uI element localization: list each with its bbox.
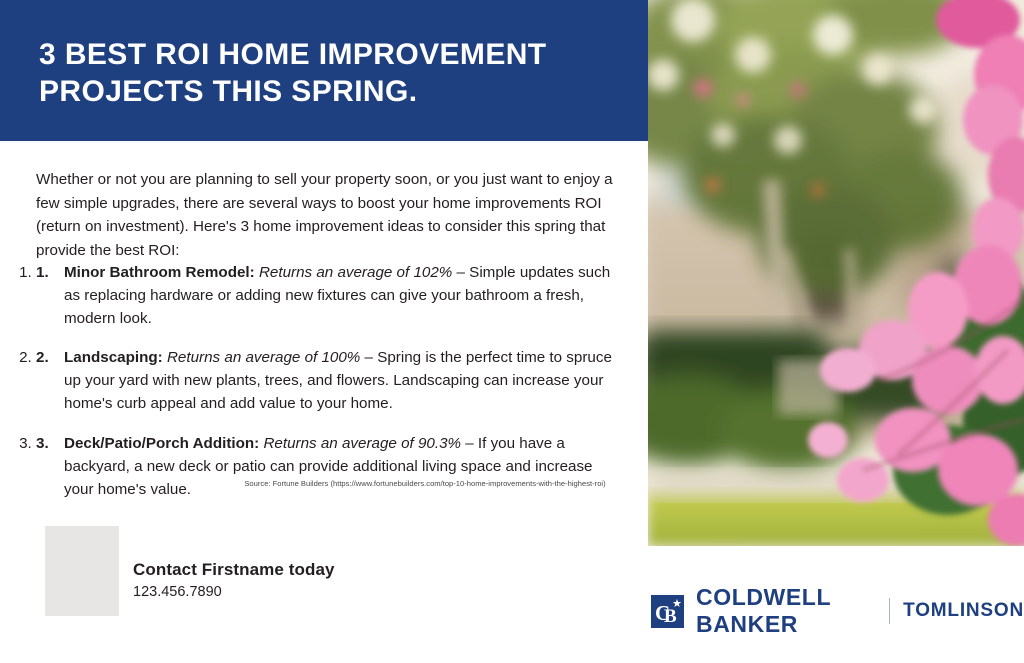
logo-divider [889, 598, 890, 624]
cb-monogram-icon: C B [651, 595, 684, 628]
list-item-number: 2. [36, 346, 49, 369]
contact-block: Contact Firstname today 123.456.7890 [133, 560, 335, 600]
hero-photo [648, 0, 1024, 546]
svg-text:B: B [664, 606, 677, 627]
house-garden-illustration [648, 0, 1024, 546]
coldwell-banker-logo: C B COLDWELL BANKER TOMLINSON [651, 584, 1024, 638]
page-title: 3 Best ROI Home Improvement Projects Thi… [39, 37, 629, 110]
list-item-number: 3. [36, 432, 49, 455]
list-item-title: Deck/Patio/Porch Addition: [64, 435, 259, 452]
contact-name: Contact Firstname today [133, 560, 335, 580]
list-item-stat: Returns an average of 90.3% [263, 435, 461, 452]
list-item-title: Landscaping: [64, 349, 163, 366]
header-band: 3 Best ROI Home Improvement Projects Thi… [0, 0, 648, 141]
intro-paragraph: Whether or not you are planning to sell … [36, 168, 616, 262]
agent-photo-placeholder [45, 526, 119, 616]
list-item: 2. Landscaping: Returns an average of 10… [36, 346, 616, 415]
list-item-stat: Returns an average of 100% [167, 349, 360, 366]
logo-brand-text: COLDWELL BANKER [696, 584, 876, 638]
list-item-title: Minor Bathroom Remodel: [64, 264, 255, 281]
logo-affiliate-text: TOMLINSON [903, 600, 1024, 622]
list-item-stat: Returns an average of 102% [259, 264, 452, 281]
list-item-number: 1. [36, 261, 49, 284]
list-item: 1. Minor Bathroom Remodel: Returns an av… [36, 261, 616, 330]
contact-phone: 123.456.7890 [133, 584, 335, 600]
source-citation: Source: Fortune Builders (https://www.fo… [215, 479, 635, 489]
list-item: 3. Deck/Patio/Porch Addition: Returns an… [36, 432, 616, 501]
